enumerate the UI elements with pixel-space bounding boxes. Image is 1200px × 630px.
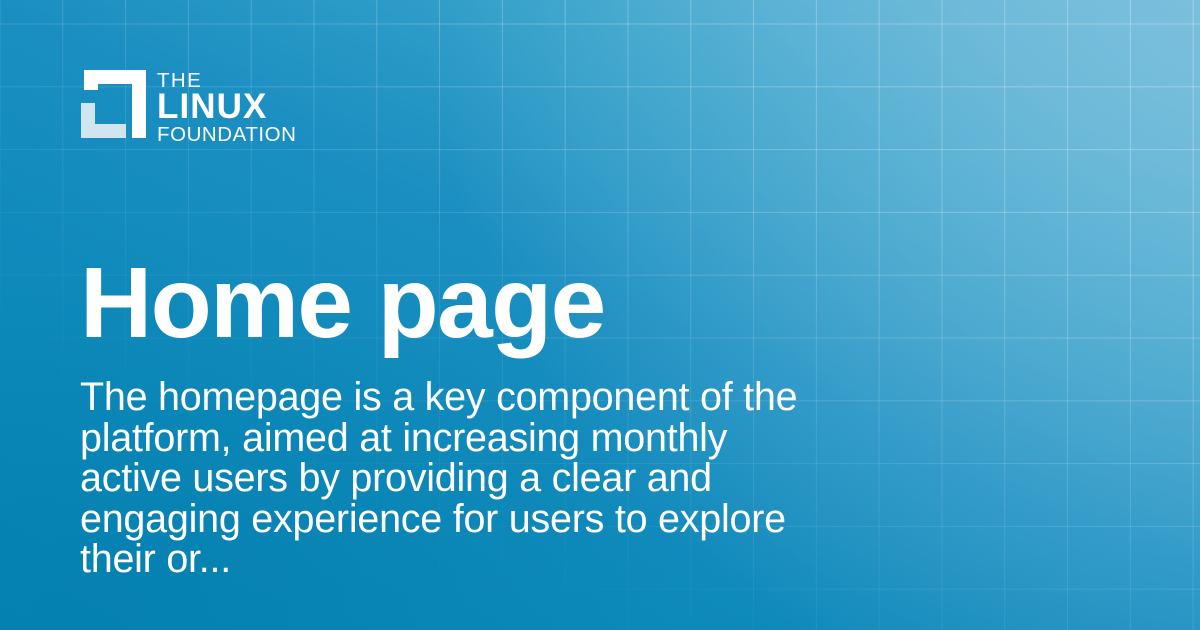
page-title: Home page bbox=[80, 252, 870, 354]
card-content: Home page The homepage is a key componen… bbox=[80, 252, 870, 580]
linux-foundation-logo: THE LINUX FOUNDATION bbox=[78, 70, 297, 145]
linux-foundation-wordmark: THE LINUX FOUNDATION bbox=[157, 71, 297, 145]
wordmark-line-linux: LINUX bbox=[157, 91, 297, 123]
linux-foundation-brackets-logo-icon bbox=[78, 70, 146, 138]
social-share-card: THE LINUX FOUNDATION Home page The homep… bbox=[0, 0, 1200, 630]
wordmark-line-foundation: FOUNDATION bbox=[157, 125, 297, 145]
page-description: The homepage is a key component of the p… bbox=[80, 377, 810, 580]
